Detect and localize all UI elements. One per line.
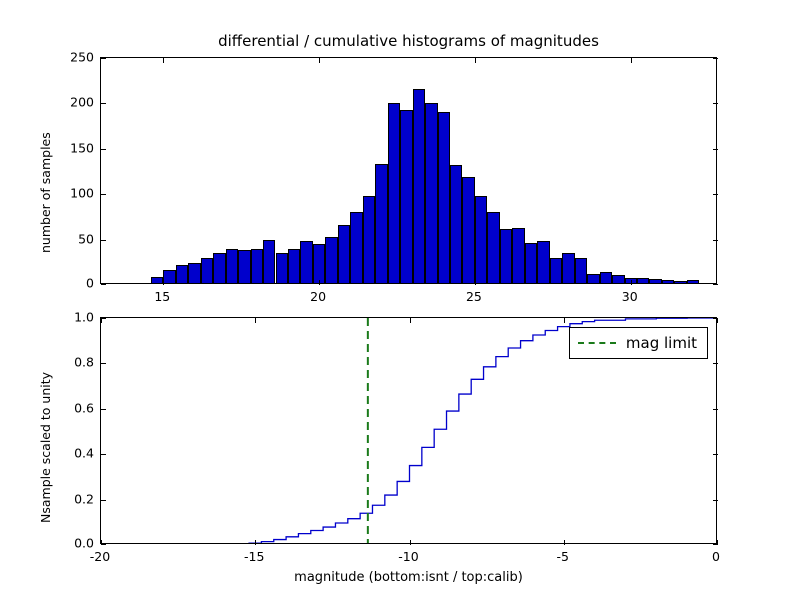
axis-tick <box>713 149 718 150</box>
histogram-bar <box>151 277 163 283</box>
histogram-bar <box>201 258 213 283</box>
histogram-bar <box>612 275 624 283</box>
histogram-bar <box>425 103 437 283</box>
axis-tick <box>319 58 320 63</box>
histogram-bar <box>188 263 200 283</box>
axis-tick <box>713 58 718 59</box>
histogram-bar <box>662 280 674 283</box>
figure-canvas: differential / cumulative histograms of … <box>0 0 800 600</box>
axis-tick <box>101 409 106 410</box>
axis-tick-label: 0.4 <box>74 446 94 461</box>
histogram-bar <box>251 249 263 283</box>
histogram-bar <box>587 274 599 283</box>
axis-tick <box>101 58 106 59</box>
axis-tick <box>713 363 718 364</box>
axis-tick-label: 50 <box>78 231 94 246</box>
axis-tick-label: 30 <box>622 289 638 304</box>
axis-tick <box>101 363 106 364</box>
axis-tick-label: 150 <box>70 140 94 155</box>
cumulative-axes: mag limit <box>100 317 717 544</box>
histogram-bar <box>438 112 450 283</box>
axis-tick-label: 200 <box>70 95 94 110</box>
axis-tick-label: 20 <box>310 289 326 304</box>
axis-tick <box>410 318 411 323</box>
axis-tick-label: 0 <box>712 549 720 564</box>
histogram-bar <box>363 196 375 283</box>
axis-tick <box>713 409 718 410</box>
axis-tick-label: 0.0 <box>74 536 94 551</box>
axis-tick <box>713 240 718 241</box>
histogram-bar <box>176 265 188 283</box>
histogram-bars <box>101 58 716 283</box>
axis-tick-label: -10 <box>398 549 418 564</box>
legend: mag limit <box>569 327 708 359</box>
histogram-bar <box>163 270 175 283</box>
axis-tick <box>410 540 411 545</box>
axis-tick-label: 1.0 <box>74 310 94 325</box>
histogram-bar <box>475 196 487 283</box>
histogram-bar <box>600 272 612 283</box>
axis-tick <box>255 540 256 545</box>
axis-tick <box>713 103 718 104</box>
axis-tick <box>631 58 632 63</box>
histogram-bar <box>213 253 225 283</box>
histogram-bar <box>300 241 312 283</box>
histogram-bar <box>450 165 462 283</box>
axis-tick-label: -15 <box>244 549 264 564</box>
axis-tick <box>713 500 718 501</box>
axis-tick-label: 250 <box>70 50 94 65</box>
axis-tick <box>101 240 106 241</box>
histogram-bar <box>550 258 562 283</box>
axis-tick <box>163 58 164 63</box>
histogram-axes <box>100 57 717 284</box>
figure-xlabel: magnitude (bottom:isnt / top:calib) <box>100 570 717 585</box>
mag-limit-line-icon <box>578 342 616 344</box>
axis-tick <box>713 194 718 195</box>
axis-tick <box>101 500 106 501</box>
axis-tick <box>713 284 718 285</box>
axis-tick-label: 0.2 <box>74 491 94 506</box>
axis-tick <box>631 280 632 285</box>
axis-tick-label: 25 <box>466 289 482 304</box>
histogram-bar <box>500 229 512 283</box>
axis-tick <box>475 280 476 285</box>
axis-tick-label: -5 <box>557 549 569 564</box>
legend-label-mag-limit: mag limit <box>626 334 697 352</box>
axis-tick <box>101 284 106 285</box>
axis-tick <box>713 544 718 545</box>
histogram-bar <box>276 253 288 283</box>
histogram-bar <box>338 225 350 283</box>
histogram-bar <box>238 250 250 283</box>
histogram-bar <box>388 103 400 283</box>
histogram-bar <box>413 89 425 283</box>
axis-tick <box>163 280 164 285</box>
histogram-bar <box>562 253 574 283</box>
axis-tick-label: 15 <box>154 289 170 304</box>
histogram-bar <box>226 249 238 283</box>
histogram-bar <box>400 110 412 283</box>
axis-tick <box>475 58 476 63</box>
histogram-bar <box>525 243 537 283</box>
axis-tick <box>564 318 565 323</box>
histogram-bar <box>288 249 300 284</box>
top-axis-ylabel: number of samples <box>38 132 53 253</box>
histogram-bar <box>313 244 325 283</box>
histogram-bar <box>350 212 362 283</box>
histogram-bar <box>512 228 524 283</box>
axis-tick <box>713 454 718 455</box>
histogram-bar <box>375 164 387 283</box>
axis-tick-label: 0.6 <box>74 400 94 415</box>
axis-tick-label: 100 <box>70 186 94 201</box>
histogram-bar <box>487 212 499 283</box>
axis-tick-label: -20 <box>90 549 110 564</box>
axis-tick <box>101 103 106 104</box>
axis-tick <box>101 149 106 150</box>
axis-tick-label: 0 <box>86 276 94 291</box>
axis-tick-label: 0.8 <box>74 355 94 370</box>
axis-tick <box>564 540 565 545</box>
histogram-bar <box>674 281 686 283</box>
axis-tick <box>101 544 106 545</box>
axis-tick <box>101 318 106 319</box>
axis-tick <box>101 454 106 455</box>
axis-tick <box>319 280 320 285</box>
histogram-bar <box>537 241 549 283</box>
histogram-bar <box>575 258 587 283</box>
histogram-bar <box>325 237 337 283</box>
axis-tick <box>713 318 718 319</box>
histogram-bar <box>637 278 649 283</box>
histogram-bar <box>462 177 474 283</box>
bottom-axis-ylabel: Nsample scaled to unity <box>38 372 53 523</box>
histogram-bar <box>687 280 699 283</box>
axis-tick <box>101 194 106 195</box>
figure-title: differential / cumulative histograms of … <box>100 32 717 50</box>
histogram-bar <box>263 240 275 283</box>
axis-tick <box>255 318 256 323</box>
histogram-bar <box>649 279 661 283</box>
